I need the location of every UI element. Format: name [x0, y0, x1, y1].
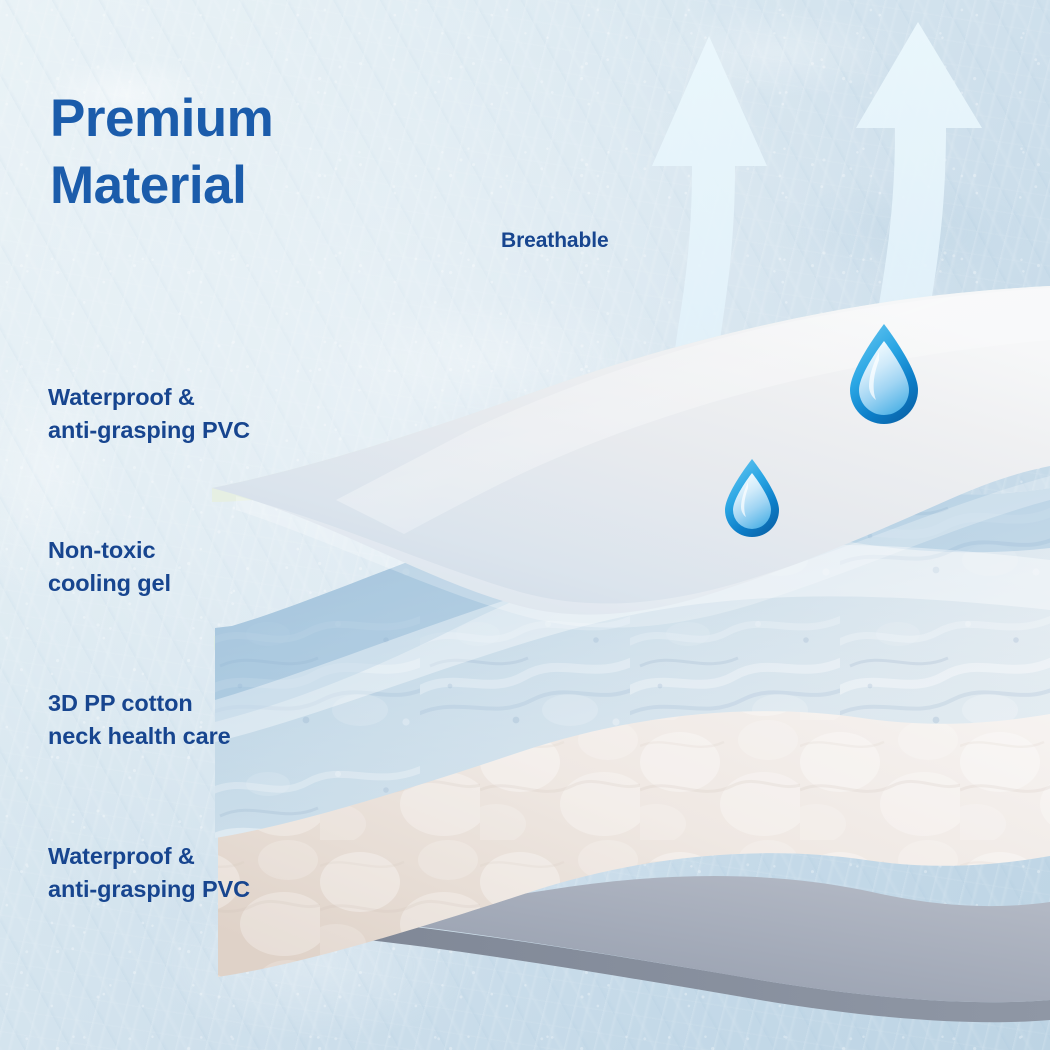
layer-label-cooling-gel: Non-toxic cooling gel [48, 534, 171, 601]
page-title: Premium Material [50, 86, 273, 220]
layer-label-top-pvc: Waterproof & anti-grasping PVC [48, 381, 250, 448]
layer-label-bottom-pvc: Waterproof & anti-grasping PVC [48, 840, 250, 907]
layer-label-pp-cotton: 3D PP cotton neck health care [48, 687, 231, 754]
callout-label-breathable: Breathable [501, 229, 609, 253]
premium-material-infographic: Premium Material Breathable Waterproof &… [0, 0, 1050, 1050]
